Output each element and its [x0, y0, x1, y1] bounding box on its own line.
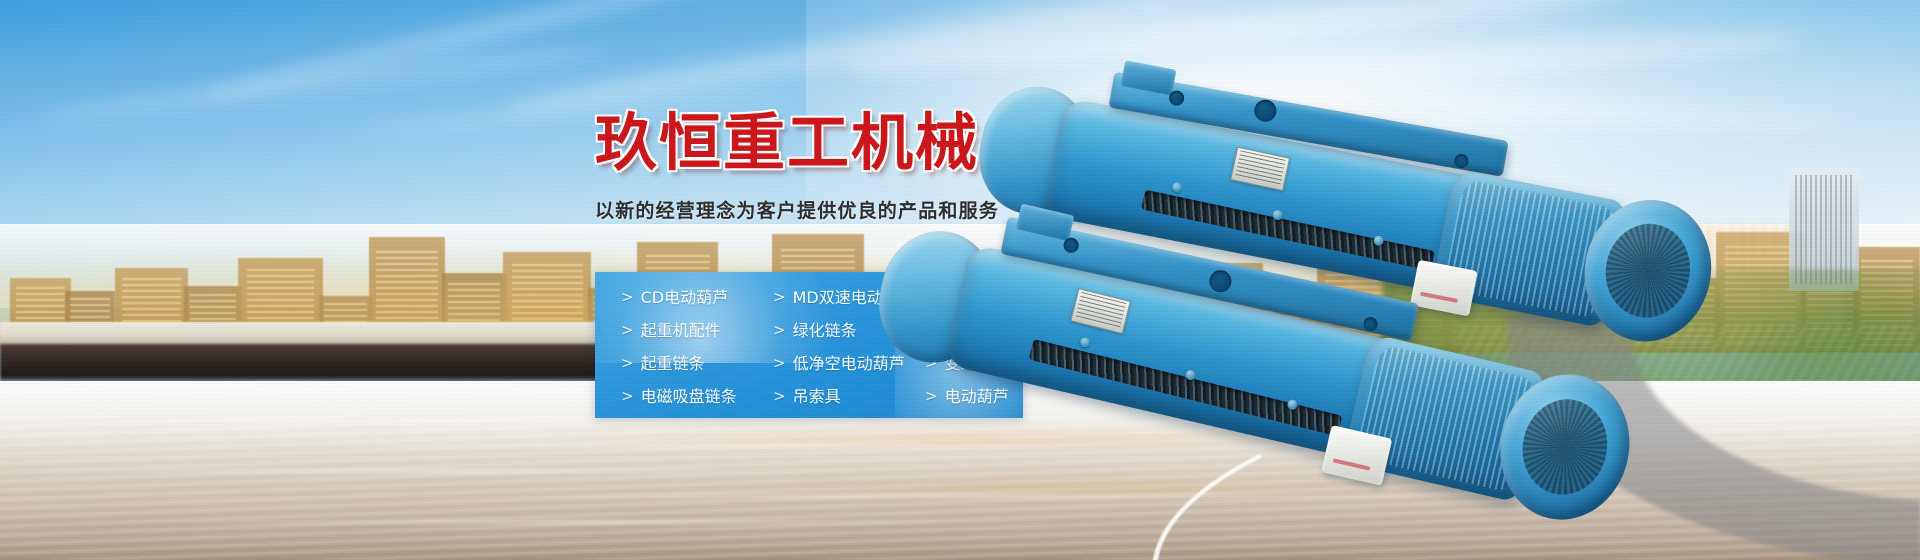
speed-streak	[38, 420, 806, 422]
product-link-crane-parts[interactable]: >起重机配件	[621, 314, 773, 347]
chevron-right-icon: >	[621, 323, 634, 338]
chevron-right-icon: >	[773, 323, 786, 338]
motor-fan-grille	[1598, 217, 1698, 325]
product-label: 吊索具	[793, 389, 841, 405]
product-label: 电磁吸盘链条	[641, 389, 737, 405]
chevron-right-icon: >	[773, 389, 786, 404]
speed-streak	[115, 521, 1075, 523]
chevron-right-icon: >	[621, 389, 634, 404]
speed-streak	[0, 470, 883, 472]
product-label: 起重链条	[641, 356, 705, 372]
product-label: 绿化链条	[793, 323, 857, 339]
chevron-right-icon: >	[773, 356, 786, 371]
chevron-right-icon: >	[773, 290, 786, 305]
product-label: CD电动葫芦	[641, 290, 729, 306]
hero-banner: 玖恒重工机械 以新的经营理念为客户提供优良的产品和服务 >CD电动葫芦 >MD双…	[0, 0, 1920, 560]
product-link-magnetic-chuck-chain[interactable]: >电磁吸盘链条	[621, 380, 773, 413]
chevron-right-icon: >	[621, 290, 634, 305]
motor-fan-grille	[1513, 391, 1617, 504]
product-link-cd-hoist[interactable]: >CD电动葫芦	[621, 281, 773, 314]
motor-junction-box	[1410, 260, 1478, 317]
chevron-right-icon: >	[621, 356, 634, 371]
product-label: 起重机配件	[641, 323, 721, 339]
product-link-lifting-chain[interactable]: >起重链条	[621, 347, 773, 380]
product-photo-hoists	[860, 30, 1920, 450]
